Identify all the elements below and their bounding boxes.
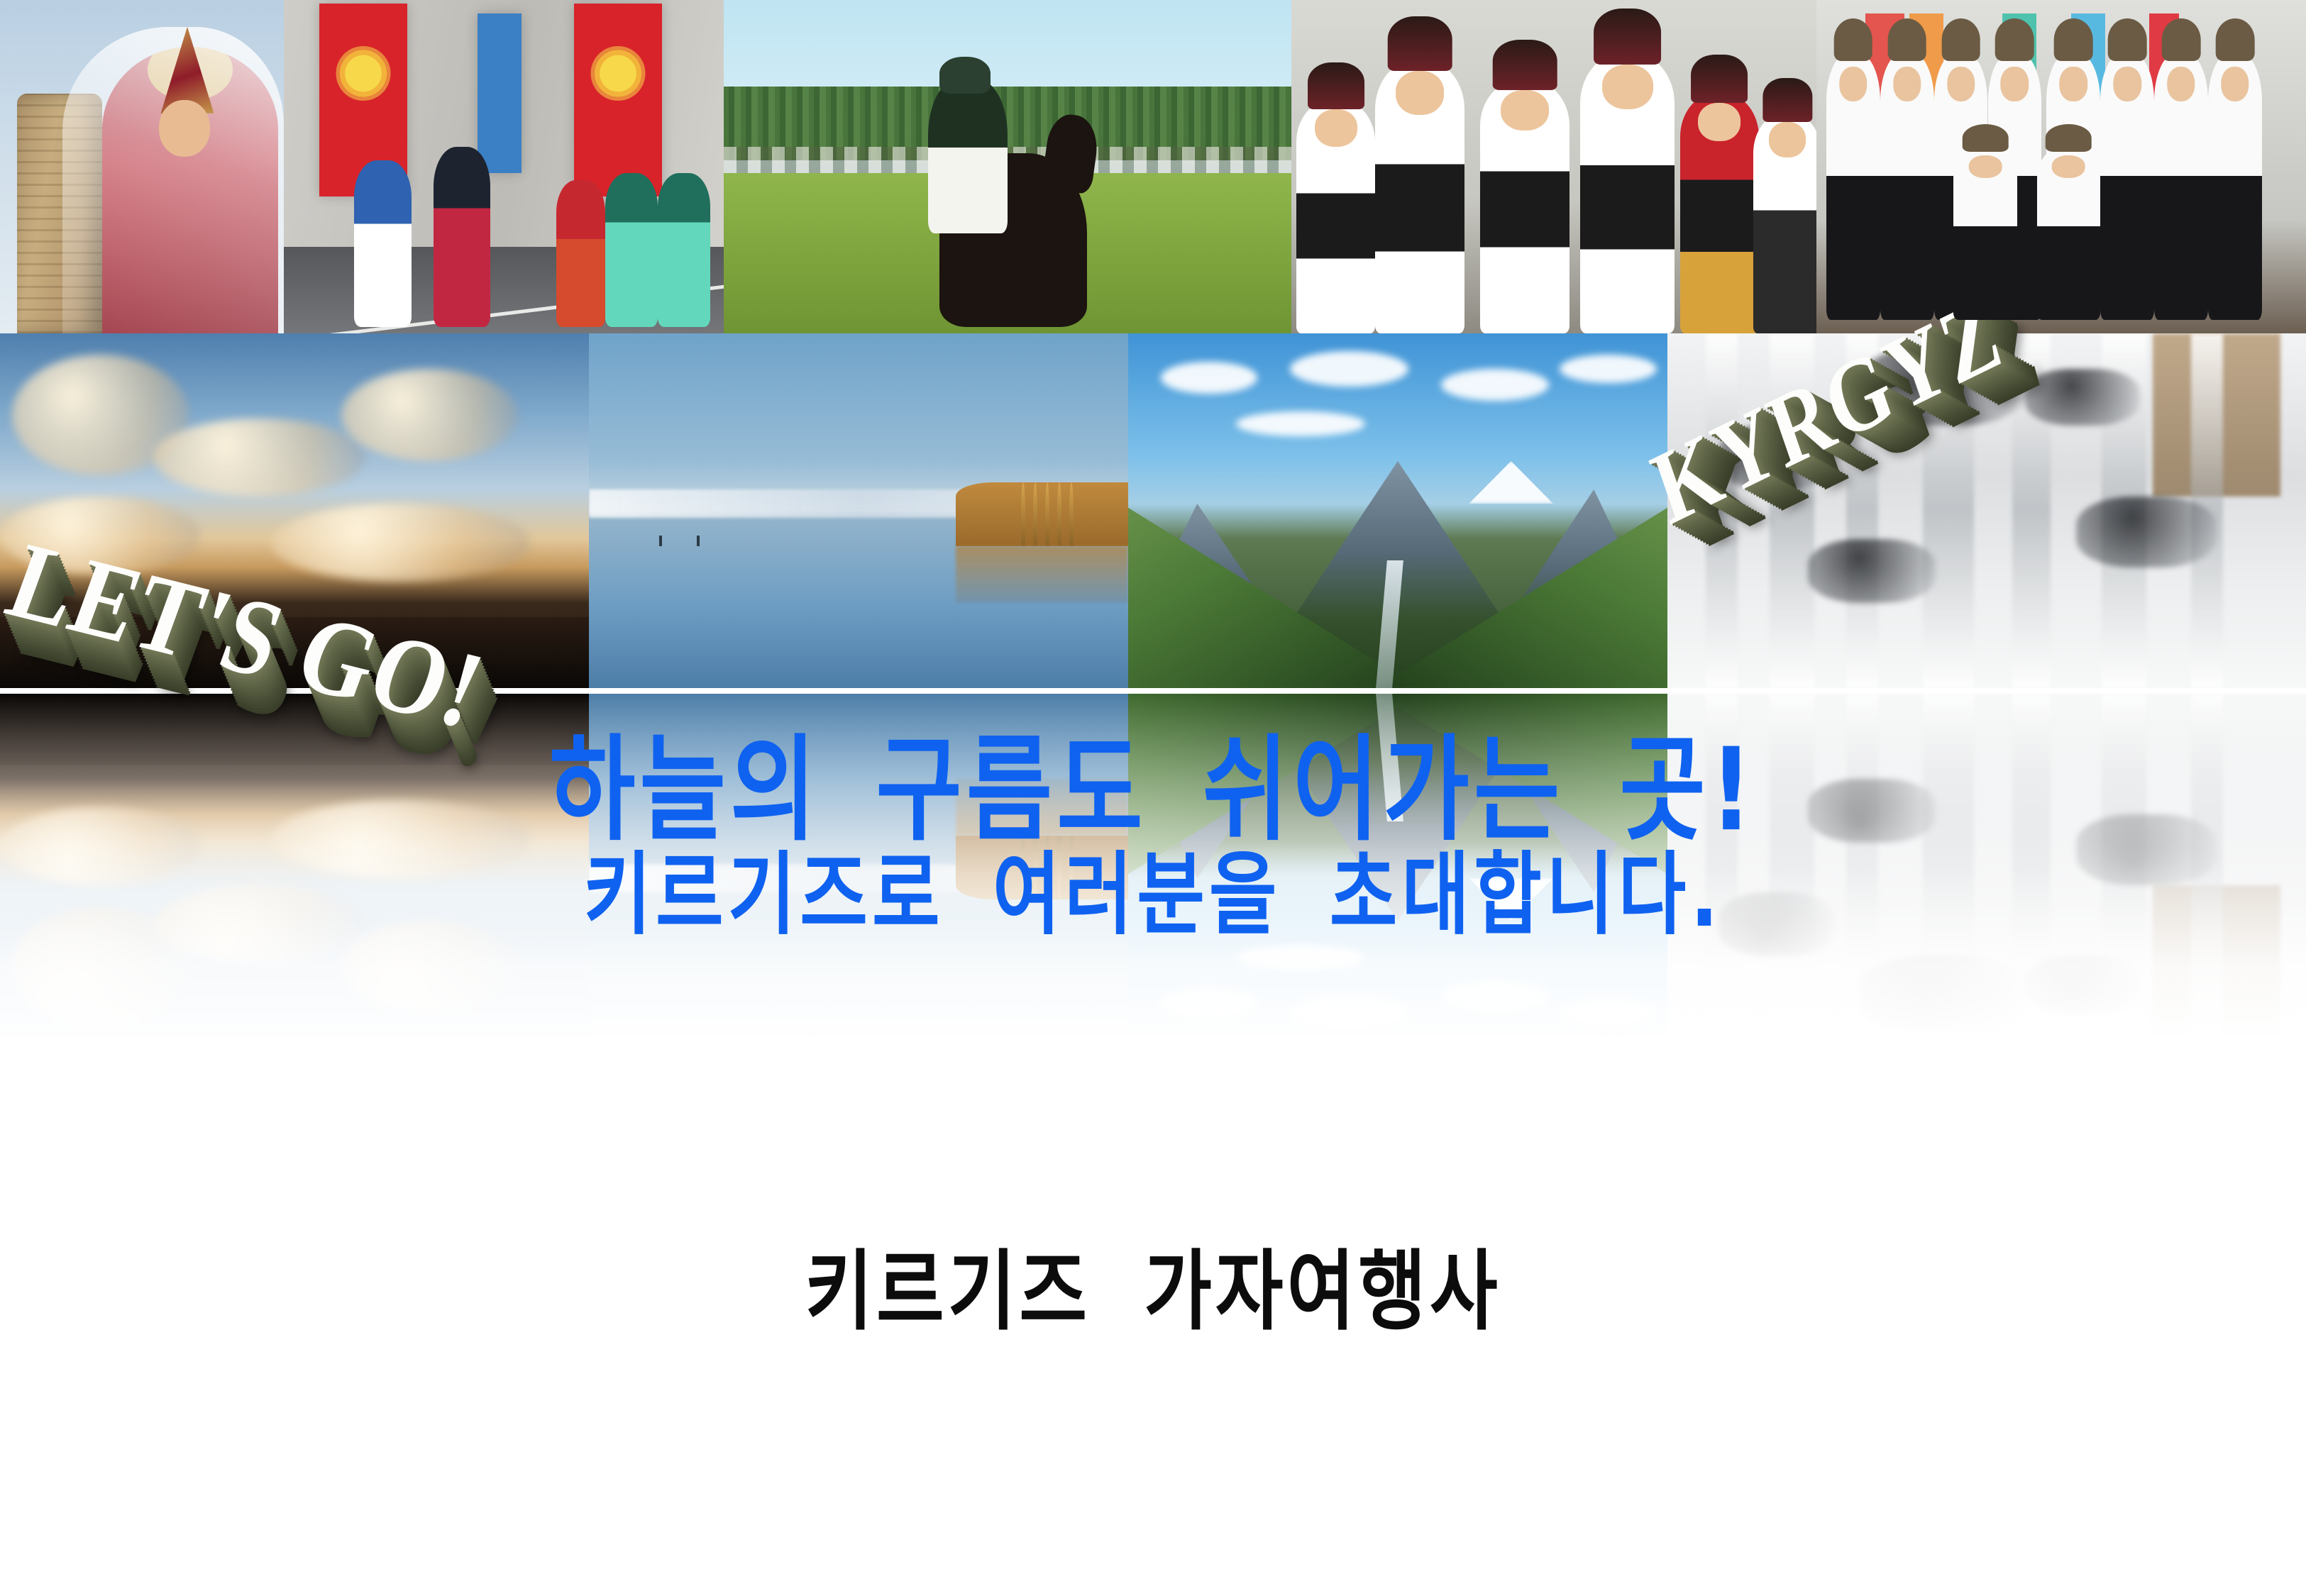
poster-canvas: LET'S GO! KYRGYZ 하늘의 구름도 쉬어가는 곳! 키르기즈로 여…: [0, 0, 2306, 1596]
photo-mountain-valley: [1128, 333, 1667, 688]
photo-issyk-kul-lake: [589, 333, 1128, 688]
reflection-mountain-valley: [1128, 694, 1667, 1041]
photo-flag-parade-dancers: [284, 0, 724, 333]
company-name: 키르기즈 가자여행사: [0, 1220, 2306, 1346]
photo-white-dress-dance-group: [1816, 0, 2306, 333]
reflection-sunset-clouds-sky: [0, 694, 589, 1041]
photo-horseback-rider-steppe: [724, 0, 1291, 333]
bottom-whitespace: [0, 1348, 2306, 1596]
photo-children-clapping: [1291, 0, 1816, 333]
reflection-issyk-kul-lake: [589, 694, 1128, 1041]
reflection-ice-waterfall: [1667, 694, 2306, 1041]
photo-costume-woman-burana-tower: [0, 0, 284, 333]
collage-row-top: [0, 0, 2306, 333]
company-name-text: 키르기즈 가자여행사: [805, 1220, 1501, 1346]
collage-reflection: [0, 694, 2306, 1041]
